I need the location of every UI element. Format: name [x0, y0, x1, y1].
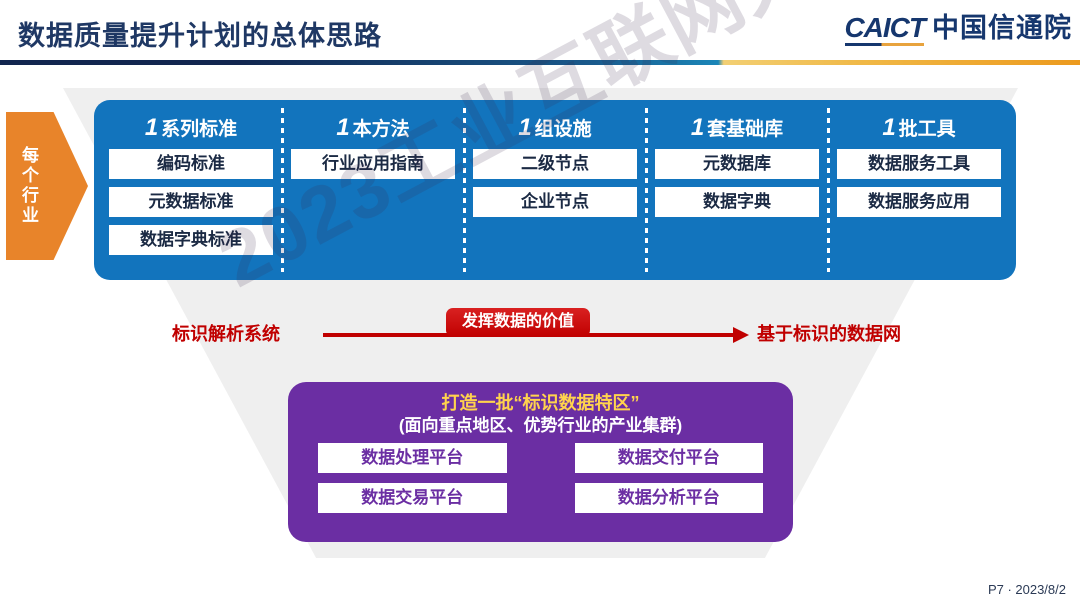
platform-item[interactable]: 数据处理平台 — [318, 443, 507, 473]
pillar-item[interactable]: 数据服务工具 — [837, 149, 1001, 179]
pillar-item[interactable]: 编码标准 — [109, 149, 273, 179]
pillar-item[interactable]: 二级节点 — [473, 149, 637, 179]
capability-pillars-panel: 1 系列标准 编码标准 元数据标准 数据字典标准 1 本方法 行业应用指南 1 … — [94, 100, 1016, 280]
value-flow-row: 标识解析系统 发挥数据的价值 基于标识的数据网 — [0, 300, 1080, 362]
pillar-facilities-number: 1 — [518, 116, 531, 140]
pillar-item[interactable]: 元数据库 — [655, 149, 819, 179]
pillar-standards-heading: 1 系列标准 — [145, 116, 237, 140]
pillar-databases: 1 套基础库 元数据库 数据字典 — [646, 106, 828, 274]
pillar-method-number: 1 — [336, 116, 349, 140]
pillar-item[interactable]: 数据字典标准 — [109, 225, 273, 255]
pillar-databases-heading: 1 套基础库 — [691, 116, 783, 140]
pillar-databases-number: 1 — [691, 116, 704, 140]
flow-arrow-head-icon — [733, 327, 749, 343]
pillar-standards-heading-text: 系列标准 — [161, 120, 237, 139]
pillar-facilities: 1 组设施 二级节点 企业节点 — [464, 106, 646, 274]
flow-source-label: 标识解析系统 — [172, 325, 280, 343]
every-industry-arrow: 每个行业 — [6, 112, 88, 260]
pillar-standards: 1 系列标准 编码标准 元数据标准 数据字典标准 — [100, 106, 282, 274]
pillar-item[interactable]: 元数据标准 — [109, 187, 273, 217]
brand-acronym-text: CAICT — [844, 14, 925, 46]
brand-name-text: 中国信通院 — [932, 15, 1072, 46]
page-title: 数据质量提升计划的总体思路 — [18, 14, 382, 53]
page-header: 数据质量提升计划的总体思路 CAICT 中国信通院 — [0, 0, 1080, 62]
every-industry-label: 每个行业 — [20, 146, 37, 226]
pillar-item[interactable]: 数据字典 — [655, 187, 819, 217]
pillar-facilities-heading: 1 组设施 — [518, 116, 591, 140]
flow-target-label: 基于标识的数据网 — [757, 325, 901, 343]
header-divider-rule — [0, 60, 1080, 65]
pillar-method-heading-text: 本方法 — [353, 120, 410, 139]
pillar-item[interactable]: 行业应用指南 — [291, 149, 455, 179]
pillar-facilities-heading-text: 组设施 — [535, 120, 592, 139]
pillar-item[interactable]: 企业节点 — [473, 187, 637, 217]
pillar-method: 1 本方法 行业应用指南 — [282, 106, 464, 274]
platform-grid: 数据处理平台 数据交付平台 数据交易平台 数据分析平台 — [306, 443, 775, 513]
slide-footer-meta: P7 · 2023/8/2 — [988, 582, 1066, 597]
data-special-zone-panel: 打造一批“标识数据特区” (面向重点地区、优势行业的产业集群) 数据处理平台 数… — [288, 382, 793, 542]
flow-value-badge: 发挥数据的价值 — [446, 308, 590, 337]
pillar-tools-number: 1 — [882, 116, 895, 140]
pillar-standards-number: 1 — [145, 116, 158, 140]
pillar-tools: 1 批工具 数据服务工具 数据服务应用 — [828, 106, 1010, 274]
platform-item[interactable]: 数据交易平台 — [318, 483, 507, 513]
caict-logo: CAICT 中国信通院 — [844, 14, 1072, 46]
special-zone-title: 打造一批“标识数据特区” — [306, 392, 775, 415]
pillar-tools-heading: 1 批工具 — [882, 116, 955, 140]
platform-item[interactable]: 数据分析平台 — [575, 483, 764, 513]
pillar-item[interactable]: 数据服务应用 — [837, 187, 1001, 217]
pillar-method-heading: 1 本方法 — [336, 116, 409, 140]
special-zone-subtitle: (面向重点地区、优势行业的产业集群) — [306, 415, 775, 436]
platform-item[interactable]: 数据交付平台 — [575, 443, 764, 473]
pillar-databases-heading-text: 套基础库 — [707, 120, 783, 139]
pillar-tools-heading-text: 批工具 — [899, 120, 956, 139]
